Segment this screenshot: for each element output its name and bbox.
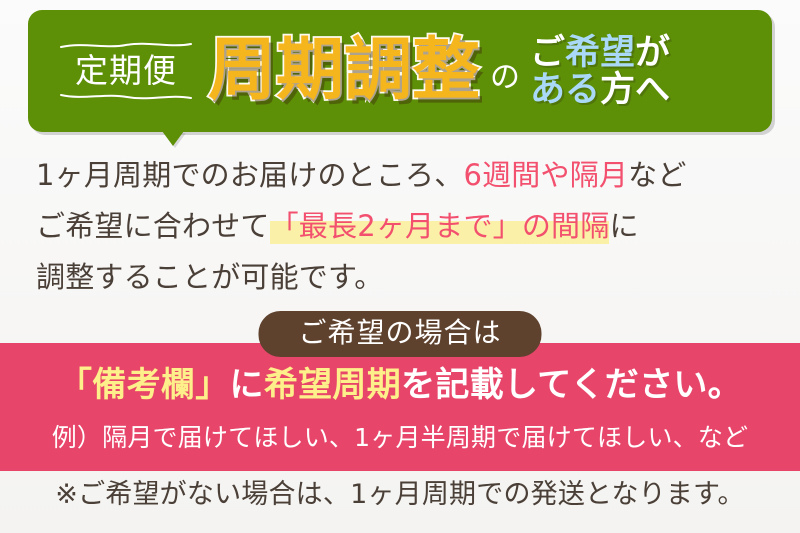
wave-rule-top-icon xyxy=(60,41,192,50)
body-line-2: ご希望に合わせて「最長2ヶ月まで」の間隔に xyxy=(36,201,764,252)
body-line2-suffix: に xyxy=(609,209,638,243)
body-line1-or: や xyxy=(541,158,570,192)
instruction-examples: 例）隔月で届けてほしい、1ヶ月半周期で届けてほしい、など xyxy=(0,424,800,453)
instruction-desired-cycle: 希望周期 xyxy=(264,365,401,405)
body-line1-every-other-month: 隔月 xyxy=(570,158,628,192)
header-speech-bubble: 定期便 周期調整 の ご希望が ある方へ xyxy=(28,10,772,132)
subscription-badge-label: 定期便 xyxy=(75,53,177,89)
default-cycle-note: ※ご希望がない場合は、1ヶ月周期での発送となります。 xyxy=(0,479,800,511)
body-line1-six-weeks: 6週間 xyxy=(463,158,540,192)
subtitle-seg-aru: ある xyxy=(530,70,600,110)
wave-rule-bottom-icon xyxy=(60,92,192,101)
subtitle-seg-kibou: 希望 xyxy=(565,33,635,73)
header-section: 定期便 周期調整 の ご希望が ある方へ xyxy=(0,0,800,148)
subtitle-seg-ga: が xyxy=(635,33,670,73)
instruction-please-write: を記載してください。 xyxy=(401,365,742,405)
instruction-headline: 「備考欄」に希望周期を記載してください。 xyxy=(0,366,800,405)
request-case-pill-label: ご希望の場合は xyxy=(258,311,541,357)
subscription-badge: 定期便 xyxy=(50,41,202,101)
header-subtitle-line-2: ある方へ xyxy=(530,72,670,109)
subtitle-seg-go: ご xyxy=(530,33,565,73)
page-title: 周期調整 xyxy=(208,37,480,105)
instruction-remarks-field: 「備考欄」 xyxy=(58,365,230,405)
subtitle-seg-katae: 方へ xyxy=(600,70,670,110)
body-line-1: 1ヶ月周期でのお届けのところ、6週間や隔月など xyxy=(36,150,764,201)
body-line2-max-interval-highlight: 「最長2ヶ月まで」の間隔 xyxy=(270,209,610,244)
body-line1-intro: 1ヶ月周期でのお届けのところ、 xyxy=(36,158,463,192)
body-line2-intro: ご希望に合わせて xyxy=(36,209,270,243)
instruction-particle-ni: に xyxy=(230,365,264,405)
header-subtitle-line-1: ご希望が xyxy=(530,35,670,72)
title-connector-particle: の xyxy=(490,63,520,93)
speech-bubble-tail-icon xyxy=(162,131,184,146)
header-subtitle: ご希望が ある方へ xyxy=(530,35,670,109)
body-line-3: 調整することが可能です。 xyxy=(36,252,764,303)
body-line1-etc: など xyxy=(628,158,686,192)
body-paragraph: 1ヶ月周期でのお届けのところ、6週間や隔月など ご希望に合わせて「最長2ヶ月まで… xyxy=(0,150,800,303)
